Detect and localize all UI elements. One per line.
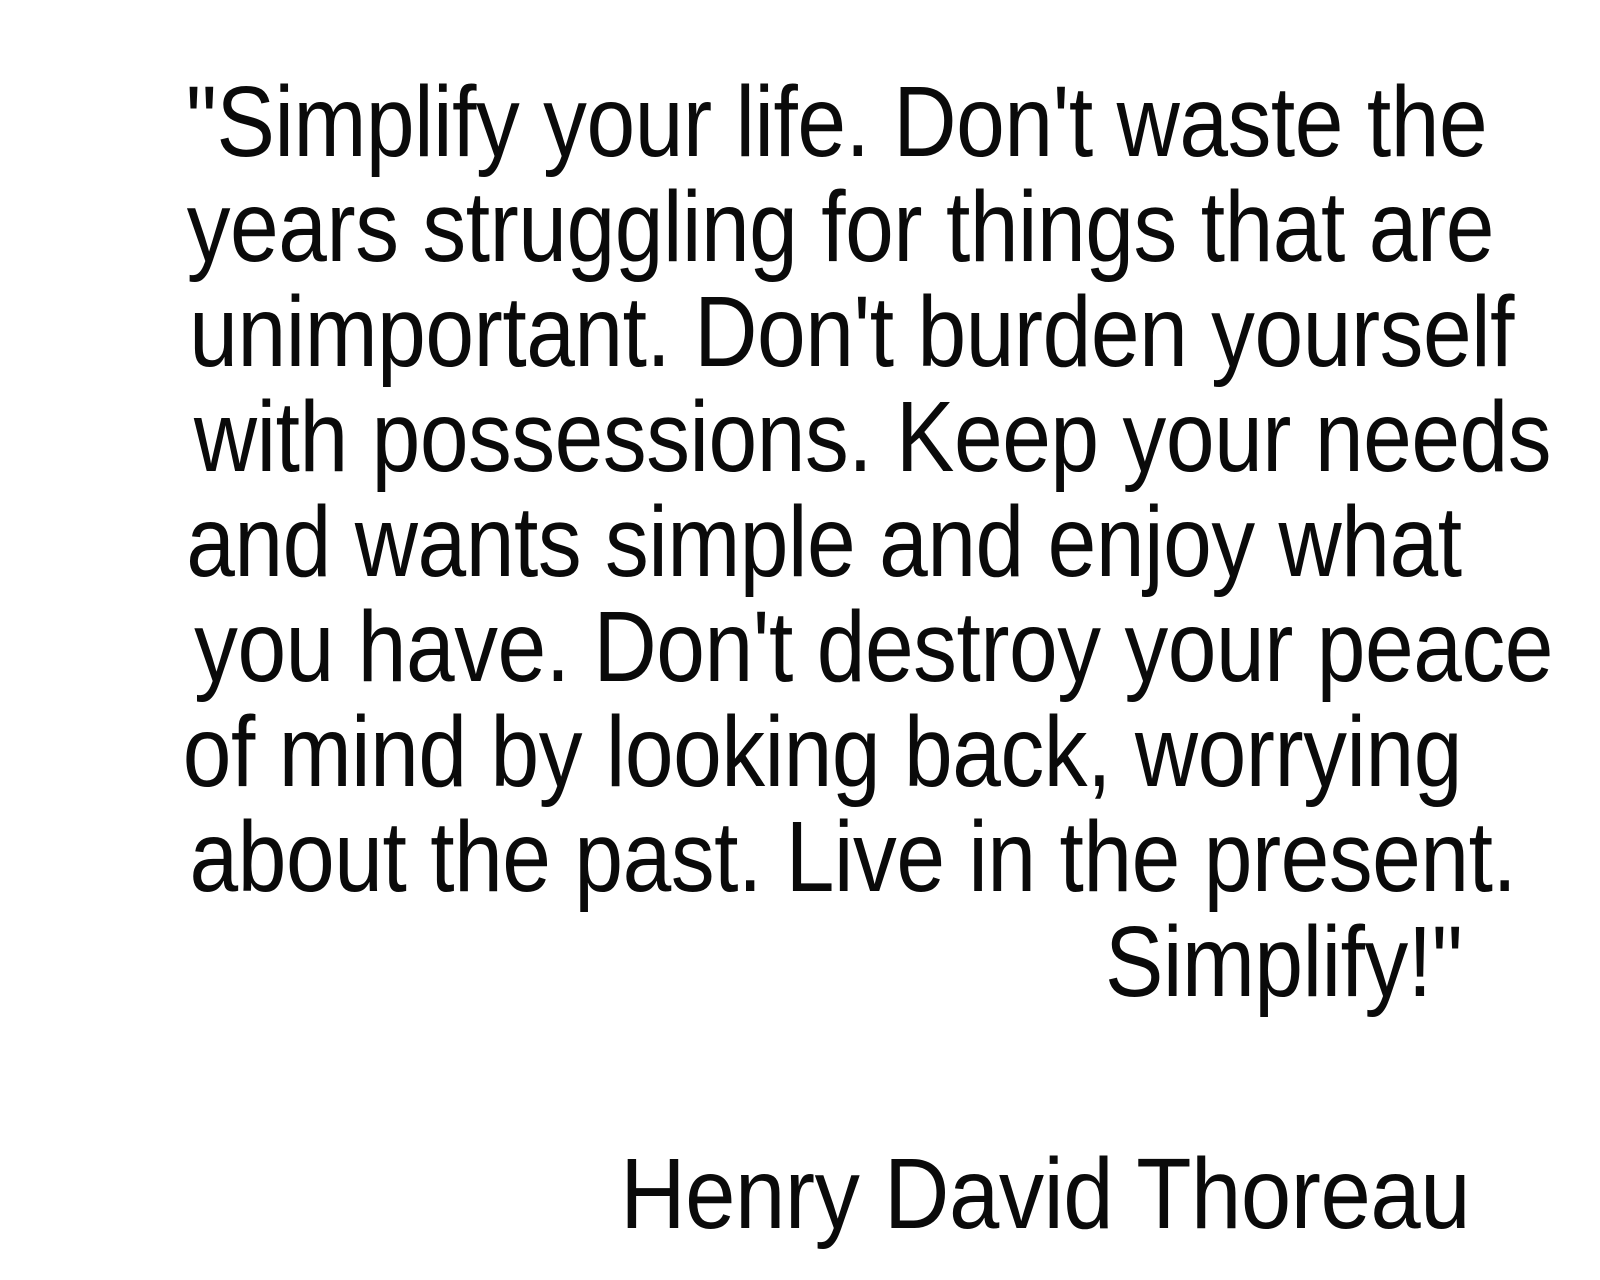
quote-line-5: and wants simple and enjoy what [0, 490, 1462, 595]
quote-line-4: with possessions. Keep your needs [0, 385, 1462, 490]
quote-line-9: Simplify!" [0, 910, 1462, 1015]
quote-line-7-text: of mind by looking back, worrying [183, 700, 1462, 805]
quote-line-8-text: about the past. Live in the present. [190, 805, 1517, 910]
quote-line-7: of mind by looking back, worrying [0, 700, 1462, 805]
quote-card: "Simplify your life. Don't waste the yea… [0, 0, 1600, 1280]
quote-text: "Simplify your life. Don't waste the yea… [0, 70, 1462, 1015]
attribution-name: Henry David Thoreau [620, 1142, 1470, 1247]
quote-line-2: years struggling for things that are [0, 175, 1462, 280]
quote-line-2-text: years struggling for things that are [187, 175, 1494, 280]
quote-line-5-text: and wants simple and enjoy what [187, 490, 1462, 595]
quote-attribution: Henry David Thoreau [0, 1142, 1470, 1247]
quote-line-3: unimportant. Don't burden yourself [0, 280, 1462, 385]
quote-line-6-text: you have. Don't destroy your peace [194, 595, 1553, 700]
quote-line-8: about the past. Live in the present. [0, 805, 1462, 910]
quote-line-6: you have. Don't destroy your peace [0, 595, 1462, 700]
quote-line-1: "Simplify your life. Don't waste the [0, 70, 1462, 175]
quote-line-1-text: "Simplify your life. Don't waste the [186, 70, 1487, 175]
quote-line-4-text: with possessions. Keep your needs [194, 385, 1551, 490]
quote-line-9-text: Simplify!" [1105, 910, 1462, 1015]
quote-line-3-text: unimportant. Don't burden yourself [189, 280, 1514, 385]
